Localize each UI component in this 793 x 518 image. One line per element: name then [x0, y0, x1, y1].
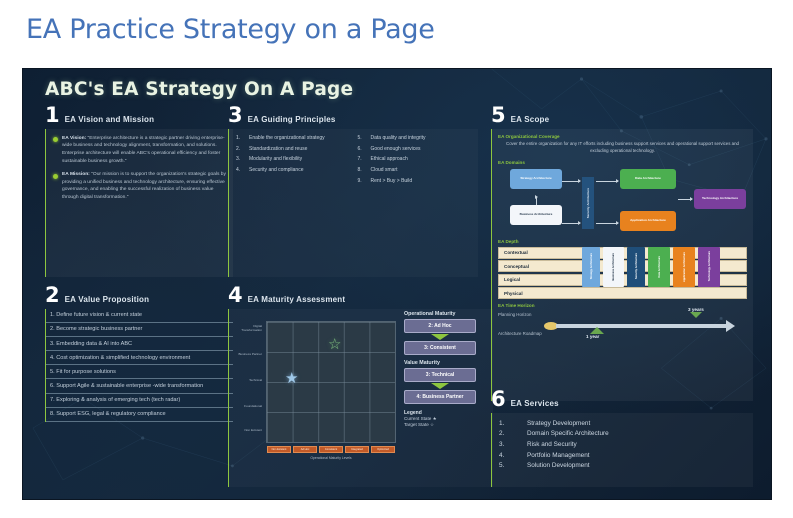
list-item: 2. Standardization and reuse [236, 146, 350, 153]
services-panel: 1. Strategy Development 2. Domain Specif… [491, 413, 753, 487]
section-ea-scope: 5 EA Scope EA Organizational Coverage Co… [491, 107, 753, 401]
depth-column-strategy: Strategy Architecture [582, 247, 600, 287]
x-axis-level: Integrated [345, 446, 369, 453]
architecture-roadmap-label: Architecture Roadmap [498, 331, 542, 336]
principle-number: 4. [236, 167, 249, 174]
time-horizon-heading: EA Time Horizon [498, 303, 747, 308]
depth-label: Logical [499, 277, 520, 282]
time-horizon-diagram: Planning Horizon Architecture Roadmap 1 … [498, 311, 747, 345]
section-3-header: 3 EA Guiding Principles [228, 107, 478, 125]
list-item: 1. Strategy Development [499, 420, 746, 427]
principles-left-column: 1. Enable the organizational strategy 2.… [236, 135, 350, 189]
chevron-down-icon [431, 383, 449, 389]
x-axis-caption: Operational Maturity Levels [266, 456, 396, 460]
three-year-marker: 3 years [688, 307, 704, 318]
value-maturity-heading: Value Maturity [404, 360, 476, 366]
service-number: 3. [499, 441, 527, 448]
principle-number: 2. [236, 146, 249, 153]
domain-box-security: Security Architecture [582, 177, 594, 229]
list-item: 5. Solution Development [499, 462, 746, 469]
x-axis-level: Ad Hoc [293, 446, 317, 453]
principle-text: Cloud smart [371, 167, 398, 174]
domain-box-application: Application Architecture [620, 211, 676, 231]
list-item: 4. Security and compliance [236, 167, 350, 174]
section-6-number: 6 [491, 391, 506, 409]
domain-box-business: Business Architecture [510, 205, 562, 225]
section-3-number: 3 [228, 107, 243, 125]
section-1-header: 1 EA Vision and Mission [45, 107, 233, 125]
principle-text: Modularity and flexibility [249, 156, 302, 163]
value-current-box: 3: Technical [404, 368, 476, 382]
value-proposition-list: 1. Define future vision & current state … [45, 309, 233, 422]
vision-text-wrap: EA Vision: "Enterprise architecture is a… [62, 135, 226, 165]
domain-box-data: Data Architecture [620, 169, 676, 189]
planning-value: 3 years [688, 307, 704, 312]
section-5-header: 5 EA Scope [491, 107, 753, 125]
section-2-header: 2 EA Value Proposition [45, 287, 233, 305]
service-label: Domain Specific Architecture [527, 430, 609, 437]
mission-text-wrap: EA Mission: "Our mission is to support t… [62, 171, 226, 201]
y-axis-label: Digital Transformation [236, 325, 262, 332]
list-item: 9. Rent > Buy > Build [358, 178, 472, 185]
service-label: Portfolio Management [527, 452, 590, 459]
service-number: 1. [499, 420, 527, 427]
mission-label: EA Mission: [62, 172, 90, 177]
section-value-proposition: 2 EA Value Proposition 1. Define future … [45, 287, 233, 422]
mission-row: EA Mission: "Our mission is to support t… [53, 171, 226, 201]
list-item: 6. Good enough services [358, 146, 472, 153]
list-item: 2. Domain Specific Architecture [499, 430, 746, 437]
depth-column-application: Application Architecture [673, 247, 695, 287]
operational-target-box: 3: Consistent [404, 341, 476, 355]
list-item: 4. Cost optimization & simplified techno… [46, 351, 233, 365]
principle-number: 6. [358, 146, 371, 153]
principles-columns: 1. Enable the organizational strategy 2.… [236, 135, 471, 189]
depth-col-label: Business Architecture [612, 253, 615, 280]
section-2-title: EA Value Proposition [65, 295, 150, 305]
depth-row: Physical [498, 287, 747, 299]
principle-number: 3. [236, 156, 249, 163]
principle-number: 7. [358, 156, 371, 163]
service-number: 2. [499, 430, 527, 437]
depth-col-label: Strategy Architecture [590, 253, 593, 279]
depth-column-business: Business Architecture [603, 247, 624, 287]
connector-arrow [562, 223, 580, 224]
triangle-down-icon [690, 312, 702, 318]
security-label: Security Architecture [586, 188, 590, 218]
roadmap-value: 1 year [586, 334, 604, 339]
section-4-title: EA Maturity Assessment [248, 295, 346, 305]
section-1-title: EA Vision and Mission [65, 115, 155, 125]
y-axis-label: Non Existent [236, 429, 262, 433]
depth-label: Conceptual [499, 264, 529, 269]
section-4-number: 4 [228, 287, 243, 305]
connector-arrow [562, 181, 580, 182]
maturity-callouts: Operational Maturity 2: Ad Hoc 3: Consis… [404, 311, 476, 428]
service-label: Strategy Development [527, 420, 590, 427]
principle-text: Security and compliance [249, 167, 303, 174]
depth-col-label: Application Architecture [683, 252, 686, 282]
principle-text: Good enough services [371, 146, 421, 153]
list-item: 5. Fit for purpose solutions [46, 365, 233, 379]
depth-col-label: Data Architecture [658, 256, 661, 278]
ea-domains-diagram: Strategy Architecture Business Architect… [498, 167, 747, 239]
list-item: 8. Support ESG, legal & regulatory compl… [46, 408, 233, 422]
domain-box-technology: Technology Architecture [694, 189, 746, 209]
section-2-number: 2 [45, 287, 60, 305]
x-axis-level: Optimized [371, 446, 395, 453]
list-item: 8. Cloud smart [358, 167, 472, 174]
principle-text: Enable the organizational strategy [249, 135, 325, 142]
list-item: 1. Define future vision & current state [46, 309, 233, 323]
connector-arrow [678, 199, 692, 200]
page-title: EA Practice Strategy on a Page [0, 0, 793, 45]
domains-heading: EA Domains [498, 160, 747, 165]
y-axis-label: Business Partner [236, 353, 262, 357]
strategy-poster: ABC's EA Strategy On A Page 1 EA Vision … [22, 68, 772, 500]
connector-arrow [596, 223, 618, 224]
target-state-star-icon: ☆ [328, 337, 341, 352]
principles-panel: 1. Enable the organizational strategy 2.… [228, 129, 478, 277]
service-label: Risk and Security [527, 441, 577, 448]
service-number: 5. [499, 462, 527, 469]
operational-current-box: 2: Ad Hoc [404, 319, 476, 333]
vision-row: EA Vision: "Enterprise architecture is a… [53, 135, 226, 165]
list-item: 3. Embedding data & AI into ABC [46, 337, 233, 351]
depth-column-technology: Technology Architecture [698, 247, 720, 287]
list-item: 3. Modularity and flexibility [236, 156, 350, 163]
depth-label: Contextual [499, 250, 528, 255]
list-item: 6. Support Agile & sustainable enterpris… [46, 379, 233, 393]
list-item: 2. Become strategic business partner [46, 323, 233, 337]
vision-text: "Enterprise architecture is a strategic … [62, 136, 225, 164]
depth-column-data: Data Architecture [648, 247, 670, 287]
one-year-marker: 1 year [590, 327, 604, 339]
depth-col-label: Security Architecture [635, 253, 638, 279]
service-label: Solution Development [527, 462, 590, 469]
vision-mission-panel: EA Vision: "Enterprise architecture is a… [45, 129, 233, 277]
principle-text: Data quality and integrity [371, 135, 426, 142]
section-6-title: EA Services [511, 399, 559, 409]
depth-column-security: Security Architecture [627, 247, 645, 287]
list-item: 1. Enable the organizational strategy [236, 135, 350, 142]
operational-maturity-heading: Operational Maturity [404, 311, 476, 317]
principle-text: Rent > Buy > Build [371, 178, 413, 185]
section-5-title: EA Scope [511, 115, 550, 125]
list-item: 7. Exploring & analysis of emerging tech… [46, 394, 233, 408]
timeline-arrowhead-icon [726, 320, 735, 332]
coverage-heading: EA Organizational Coverage [498, 134, 747, 139]
value-target-box: 4: Business Partner [404, 390, 476, 404]
section-6-header: 6 EA Services [491, 391, 753, 409]
section-maturity-assessment: 4 EA Maturity Assessment Digital Transfo… [228, 287, 493, 487]
vision-label: EA Vision: [62, 136, 86, 141]
chevron-down-icon [431, 334, 449, 340]
domain-box-strategy: Strategy Architecture [510, 169, 562, 189]
planning-horizon-label: Planning Horizon [498, 312, 531, 317]
bullet-dot-icon [53, 137, 58, 142]
principle-text: Standardization and reuse [249, 146, 307, 153]
section-4-header: 4 EA Maturity Assessment [228, 287, 493, 305]
triangle-up-icon [590, 327, 604, 334]
x-axis-level: Consistent [319, 446, 343, 453]
list-item: 3. Risk and Security [499, 441, 746, 448]
connector-arrow [536, 197, 537, 205]
depth-heading: EA Depth [498, 239, 747, 244]
principle-text: Ethical approach [371, 156, 408, 163]
principle-number: 9. [358, 178, 371, 185]
poster-header: ABC's EA Strategy On A Page [23, 69, 771, 100]
section-vision-mission: 1 EA Vision and Mission EA Vision: "Ente… [45, 107, 233, 277]
section-5-number: 5 [491, 107, 506, 125]
principle-number: 1. [236, 135, 249, 142]
timeline-bar [556, 324, 728, 328]
depth-col-label: Technology Architecture [708, 251, 711, 281]
section-1-number: 1 [45, 107, 60, 125]
service-number: 4. [499, 452, 527, 459]
list-item: 4. Portfolio Management [499, 452, 746, 459]
bullet-dot-icon [53, 174, 58, 179]
x-axis-level: Non Existent [267, 446, 291, 453]
section-guiding-principles: 3 EA Guiding Principles 1. Enable the or… [228, 107, 478, 277]
connector-arrow [596, 181, 618, 182]
y-axis-label: Technical [236, 379, 262, 383]
maturity-panel: Digital Transformation Business Partner … [228, 309, 493, 487]
list-item: 7. Ethical approach [358, 156, 472, 163]
principles-right-column: 5. Data quality and integrity 6. Good en… [358, 135, 472, 189]
list-item: 5. Data quality and integrity [358, 135, 472, 142]
current-state-star-icon: ★ [285, 371, 298, 386]
scope-panel: EA Organizational Coverage Cover the ent… [491, 129, 753, 401]
section-3-title: EA Guiding Principles [248, 115, 336, 125]
y-axis-label: Foundational [236, 405, 262, 409]
legend-target-state: Target State ☆ [404, 422, 476, 428]
principle-number: 8. [358, 167, 371, 174]
ea-depth-stack: Contextual Conceptual Logical Physical S… [498, 247, 747, 300]
principle-number: 5. [358, 135, 371, 142]
section-ea-services: 6 EA Services 1. Strategy Development 2.… [491, 391, 753, 487]
coverage-text: Cover the entire organization for any IT… [498, 141, 747, 154]
depth-label: Physical [499, 291, 523, 296]
